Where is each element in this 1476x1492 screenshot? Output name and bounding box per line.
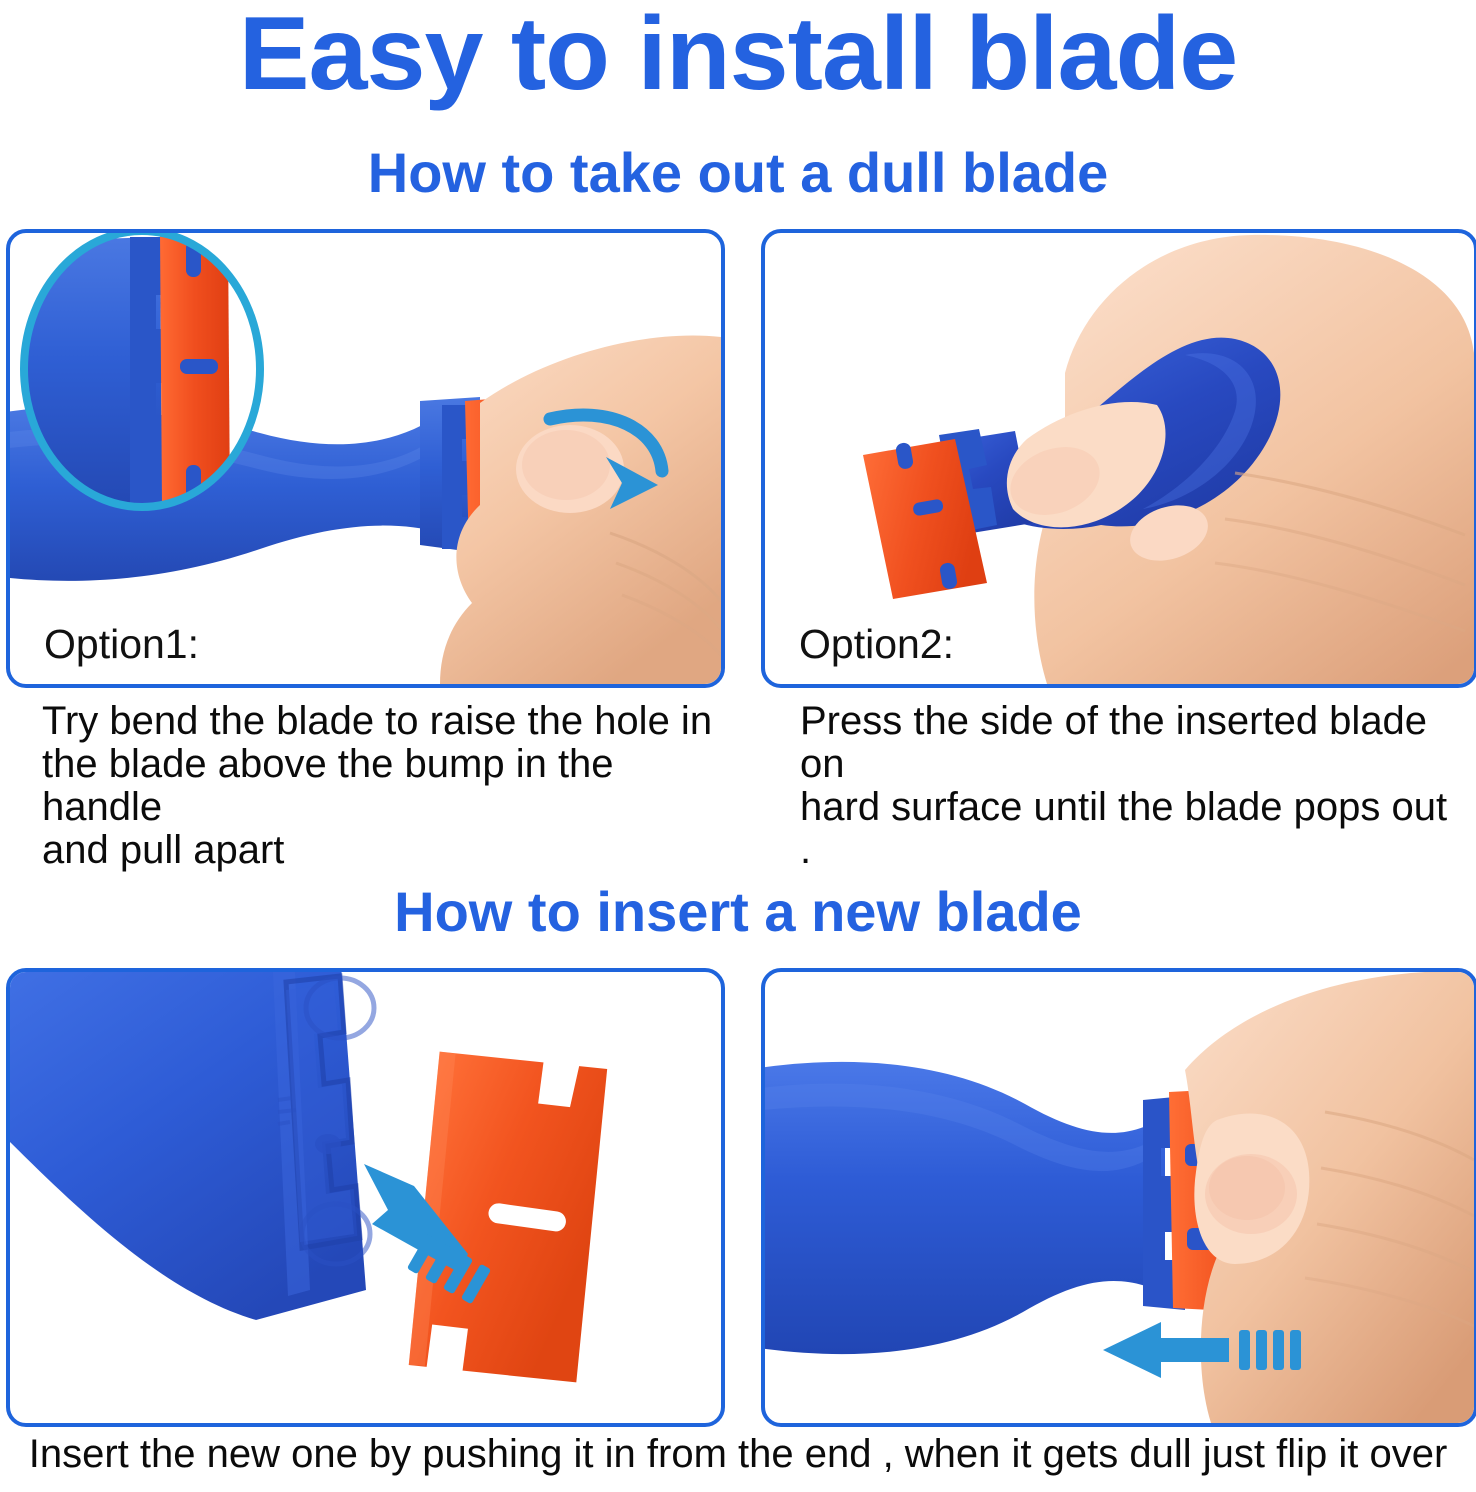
page-title: Easy to install blade xyxy=(0,2,1476,106)
photo-hand-pushing-blade xyxy=(765,972,1474,1423)
panel-option1: Option1: xyxy=(6,229,725,688)
infographic-root: Easy to install blade How to take out a … xyxy=(0,0,1476,1492)
caption-option2: Press the side of the inserted blade on … xyxy=(800,700,1460,872)
panel-insert-left xyxy=(6,968,725,1427)
caption-insert-footer: Insert the new one by pushing it in from… xyxy=(0,1432,1476,1476)
option-label: Option1: xyxy=(44,622,199,666)
section-heading-take-out: How to take out a dull blade xyxy=(0,145,1476,201)
caption-option1: Try bend the blade to raise the hole in … xyxy=(42,700,722,872)
panel-option2: Option2: xyxy=(761,229,1476,688)
photo-hand-pressing-blade xyxy=(765,233,1474,684)
photo-detached-handle-and-blade xyxy=(10,972,721,1423)
photo-hand-pulling-blade xyxy=(10,233,721,684)
section-heading-insert: How to insert a new blade xyxy=(0,884,1476,940)
option-label: Option2: xyxy=(799,622,954,666)
magnifier-circle-icon xyxy=(24,233,260,509)
panel-insert-right xyxy=(761,968,1476,1427)
